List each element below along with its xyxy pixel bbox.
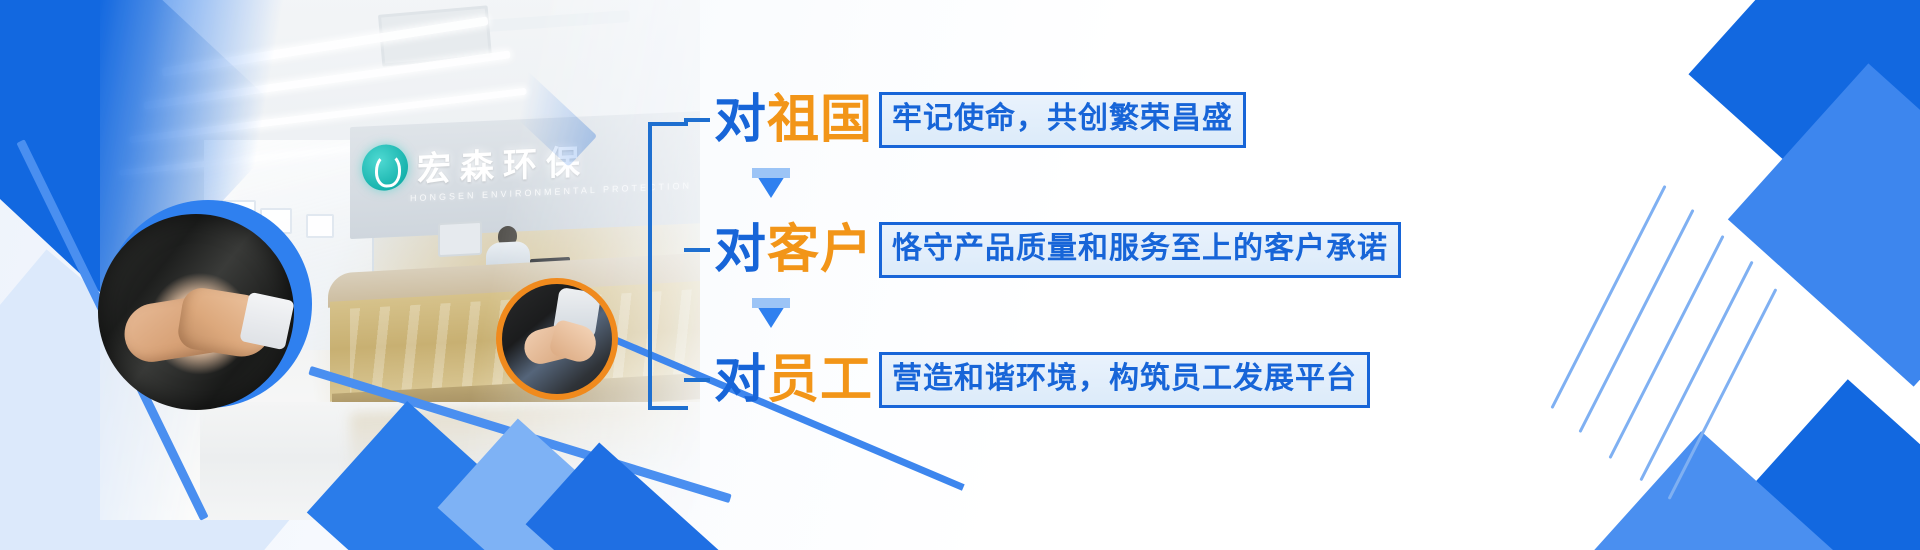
commitment-statement-country: 牢记使命，共创繁荣昌盛 (879, 92, 1246, 148)
company-sign-name: 宏森环保 (417, 134, 589, 191)
commitment-target: 员工 (767, 350, 873, 410)
commitment-row-employee: 对员工 营造和谐环境，构筑员工发展平台 (684, 352, 1370, 408)
reception-monitor (438, 221, 482, 257)
down-arrow-icon (752, 168, 790, 198)
down-arrow-icon (752, 298, 790, 328)
bracket-connector (648, 122, 688, 410)
clasped-hands-photo (502, 284, 612, 394)
leaf-globe-icon (362, 144, 408, 192)
commitment-prefix: 对 (714, 220, 767, 280)
commitment-label-customer: 对客户 (714, 224, 873, 276)
decor-diamond-right-1 (1688, 0, 1920, 242)
commitment-list: 对祖国 牢记使命，共创繁荣昌盛 对客户 恪守产品质量和服务至上的客户承诺 对员工… (648, 76, 1668, 456)
connector-stem (684, 378, 710, 382)
shirt-cuff (239, 292, 294, 350)
commitment-target: 祖国 (767, 90, 873, 150)
commitment-label-country: 对祖国 (714, 94, 873, 146)
commitment-prefix: 对 (714, 90, 767, 150)
company-culture-banner: 宏森环保 HONGSEN ENVIRONMENTAL PROTECTION (0, 0, 1920, 550)
connector-stem (684, 248, 710, 252)
commitment-row-customer: 对客户 恪守产品质量和服务至上的客户承诺 (684, 222, 1401, 278)
commitment-label-employee: 对员工 (714, 354, 873, 406)
commitment-prefix: 对 (714, 350, 767, 410)
commitment-statement-customer: 恪守产品质量和服务至上的客户承诺 (879, 222, 1401, 278)
decor-diamond-right-2 (1728, 63, 1920, 386)
commitment-target: 客户 (767, 220, 873, 280)
connector-stem (684, 118, 710, 122)
commitment-statement-employee: 营造和谐环境，构筑员工发展平台 (879, 352, 1370, 408)
shelf-unit (306, 214, 334, 238)
handshake-photo (98, 214, 294, 410)
commitment-row-country: 对祖国 牢记使命，共创繁荣昌盛 (684, 92, 1246, 148)
decor-diamond-right-3 (1694, 379, 1920, 550)
